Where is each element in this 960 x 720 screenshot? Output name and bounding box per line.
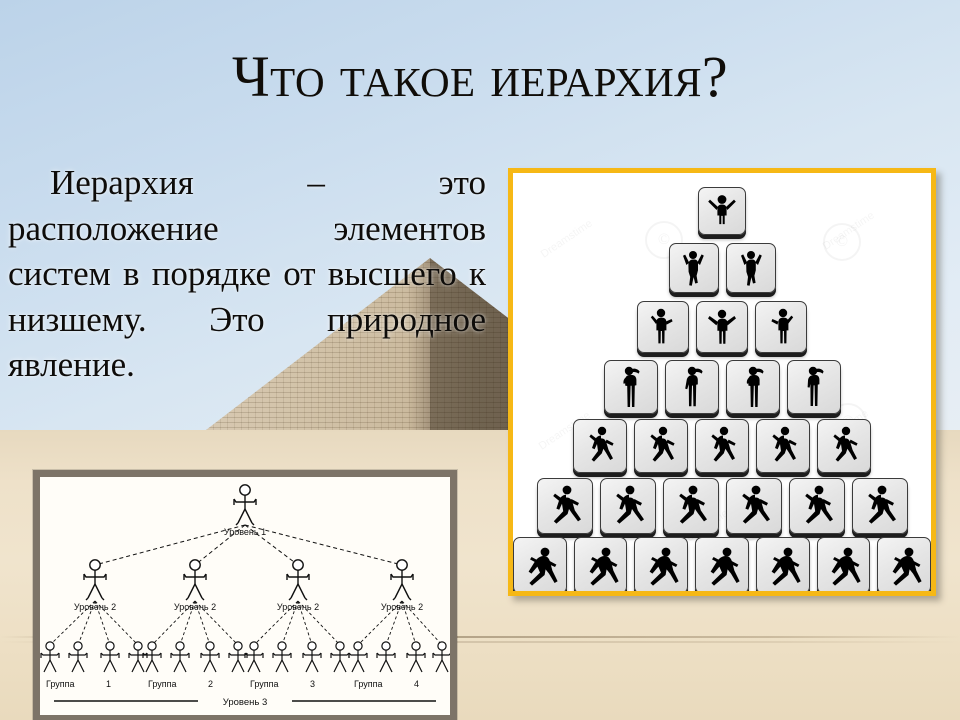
diagram-group-number: 1 — [106, 679, 111, 689]
diagram-group-number: 4 — [414, 679, 419, 689]
diagram-level2-label: Уровень 2 — [381, 602, 423, 612]
person-tile[interactable] — [852, 478, 908, 534]
diagram-group-label: Группа — [46, 679, 75, 689]
person-tile[interactable] — [696, 301, 748, 353]
slide-canvas: Что такое иерархия? Иерархия – это распо… — [0, 0, 960, 720]
diagram-level2-label: Уровень 2 — [74, 602, 116, 612]
diagram-group-label: Группа — [148, 679, 177, 689]
pyramid-row-6 — [513, 478, 931, 534]
diagram-group-number: 3 — [310, 679, 315, 689]
person-tile[interactable] — [513, 537, 567, 591]
person-tile[interactable] — [573, 419, 627, 473]
hierarchy-diagram: Уровень 1 Уровень 2 Уровень 2 Уровень 2 … — [40, 477, 450, 715]
person-tile[interactable] — [695, 419, 749, 473]
person-tile[interactable] — [877, 537, 931, 591]
pyramid-row-3 — [513, 301, 931, 353]
pyramid-row-5 — [513, 419, 931, 473]
diagram-level2-label: Уровень 2 — [277, 602, 319, 612]
person-tile[interactable] — [600, 478, 656, 534]
person-tile[interactable] — [604, 360, 658, 414]
hierarchy-diagram-frame: Уровень 1 Уровень 2 Уровень 2 Уровень 2 … — [33, 470, 457, 720]
person-tile[interactable] — [665, 360, 719, 414]
body-paragraph: Иерархия – это расположение элементов си… — [8, 160, 486, 388]
person-tile[interactable] — [726, 478, 782, 534]
pyramid-row-1 — [513, 187, 931, 235]
diagram-group-label: Группа — [250, 679, 279, 689]
person-tile[interactable] — [695, 537, 749, 591]
human-pyramid-image: Dreamstime Dreamstime Dreamstime Dreamst… — [513, 173, 931, 591]
person-tile[interactable] — [755, 301, 807, 353]
page-title: Что такое иерархия? — [0, 46, 960, 107]
person-tile[interactable] — [634, 419, 688, 473]
person-tile[interactable] — [756, 419, 810, 473]
person-tile[interactable] — [634, 537, 688, 591]
human-pyramid-frame: Dreamstime Dreamstime Dreamstime Dreamst… — [508, 168, 936, 596]
person-tile[interactable] — [637, 301, 689, 353]
diagram-level3-label: Уровень 3 — [223, 697, 268, 708]
diagram-group-number: 2 — [208, 679, 213, 689]
pyramid-row-7 — [513, 537, 931, 591]
person-tile[interactable] — [817, 537, 871, 591]
person-tile[interactable] — [663, 478, 719, 534]
person-tile[interactable] — [669, 243, 719, 293]
diagram-level1-label: Уровень 1 — [224, 527, 266, 537]
person-tile[interactable] — [726, 360, 780, 414]
person-tile[interactable] — [756, 537, 810, 591]
person-tile[interactable] — [787, 360, 841, 414]
person-tile[interactable] — [537, 478, 593, 534]
person-tile[interactable] — [698, 187, 746, 235]
person-tile[interactable] — [789, 478, 845, 534]
person-tile[interactable] — [817, 419, 871, 473]
pyramid-row-2 — [513, 243, 931, 293]
diagram-group-label: Группа — [354, 679, 383, 689]
person-tile[interactable] — [726, 243, 776, 293]
diagram-level2-label: Уровень 2 — [174, 602, 216, 612]
pyramid-row-4 — [513, 360, 931, 414]
person-tile[interactable] — [574, 537, 628, 591]
